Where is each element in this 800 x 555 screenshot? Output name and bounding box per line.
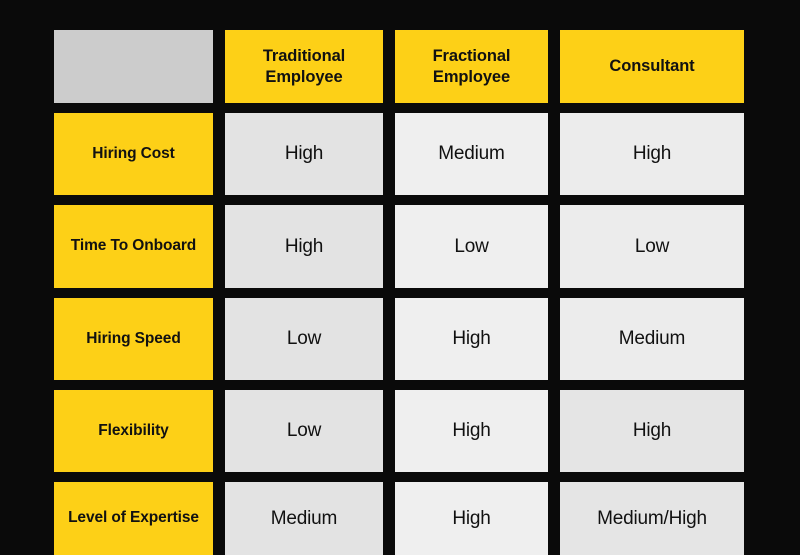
column-header-fractional-employee: Fractional Employee [395, 30, 548, 103]
table-cell: Low [225, 298, 383, 380]
row-header-label: Level of Expertise [68, 509, 199, 528]
table-cell: High [225, 205, 383, 288]
table-cell: High [225, 113, 383, 195]
column-header-label: Traditional Employee [231, 46, 377, 86]
table-cell-value: Medium [271, 507, 337, 530]
column-header-label: Fractional Employee [401, 46, 542, 86]
table-cell: Low [395, 205, 548, 288]
row-header-label: Time To Onboard [71, 237, 196, 256]
column-header-consultant: Consultant [560, 30, 744, 103]
table-cell: High [395, 390, 548, 472]
table-cell-value: Medium [619, 327, 685, 350]
row-header-label: Hiring Speed [86, 330, 180, 349]
table-cell: Medium [560, 298, 744, 380]
table-cell: Medium/High [560, 482, 744, 555]
row-header-label: Flexibility [98, 422, 168, 441]
row-header-hiring-cost: Hiring Cost [54, 113, 213, 195]
row-header-flexibility: Flexibility [54, 390, 213, 472]
table-cell-value: Medium/High [597, 507, 707, 530]
table-cell-value: High [633, 142, 671, 165]
column-header-label: Consultant [609, 56, 694, 76]
table-cell: High [560, 113, 744, 195]
table-cell-value: High [285, 235, 323, 258]
table-corner-cell [54, 30, 213, 103]
column-header-traditional-employee: Traditional Employee [225, 30, 383, 103]
table-cell-value: Low [454, 235, 488, 258]
table-cell: Low [225, 390, 383, 472]
row-header-label: Hiring Cost [92, 145, 174, 164]
table-cell: Medium [395, 113, 548, 195]
table-cell-value: High [452, 419, 490, 442]
table-cell-value: High [452, 507, 490, 530]
table-cell-value: Low [287, 327, 321, 350]
table-cell: Low [560, 205, 744, 288]
table-cell-value: Low [635, 235, 669, 258]
table-cell: High [560, 390, 744, 472]
row-header-level-of-expertise: Level of Expertise [54, 482, 213, 555]
table-cell-value: High [633, 419, 671, 442]
table-cell: Medium [225, 482, 383, 555]
table-cell: High [395, 482, 548, 555]
row-header-hiring-speed: Hiring Speed [54, 298, 213, 380]
table-cell-value: Low [287, 419, 321, 442]
table-cell: High [395, 298, 548, 380]
comparison-table: Traditional Employee Fractional Employee… [54, 30, 746, 505]
table-cell-value: High [452, 327, 490, 350]
table-cell-value: High [285, 142, 323, 165]
row-header-time-to-onboard: Time To Onboard [54, 205, 213, 288]
table-cell-value: Medium [438, 142, 504, 165]
